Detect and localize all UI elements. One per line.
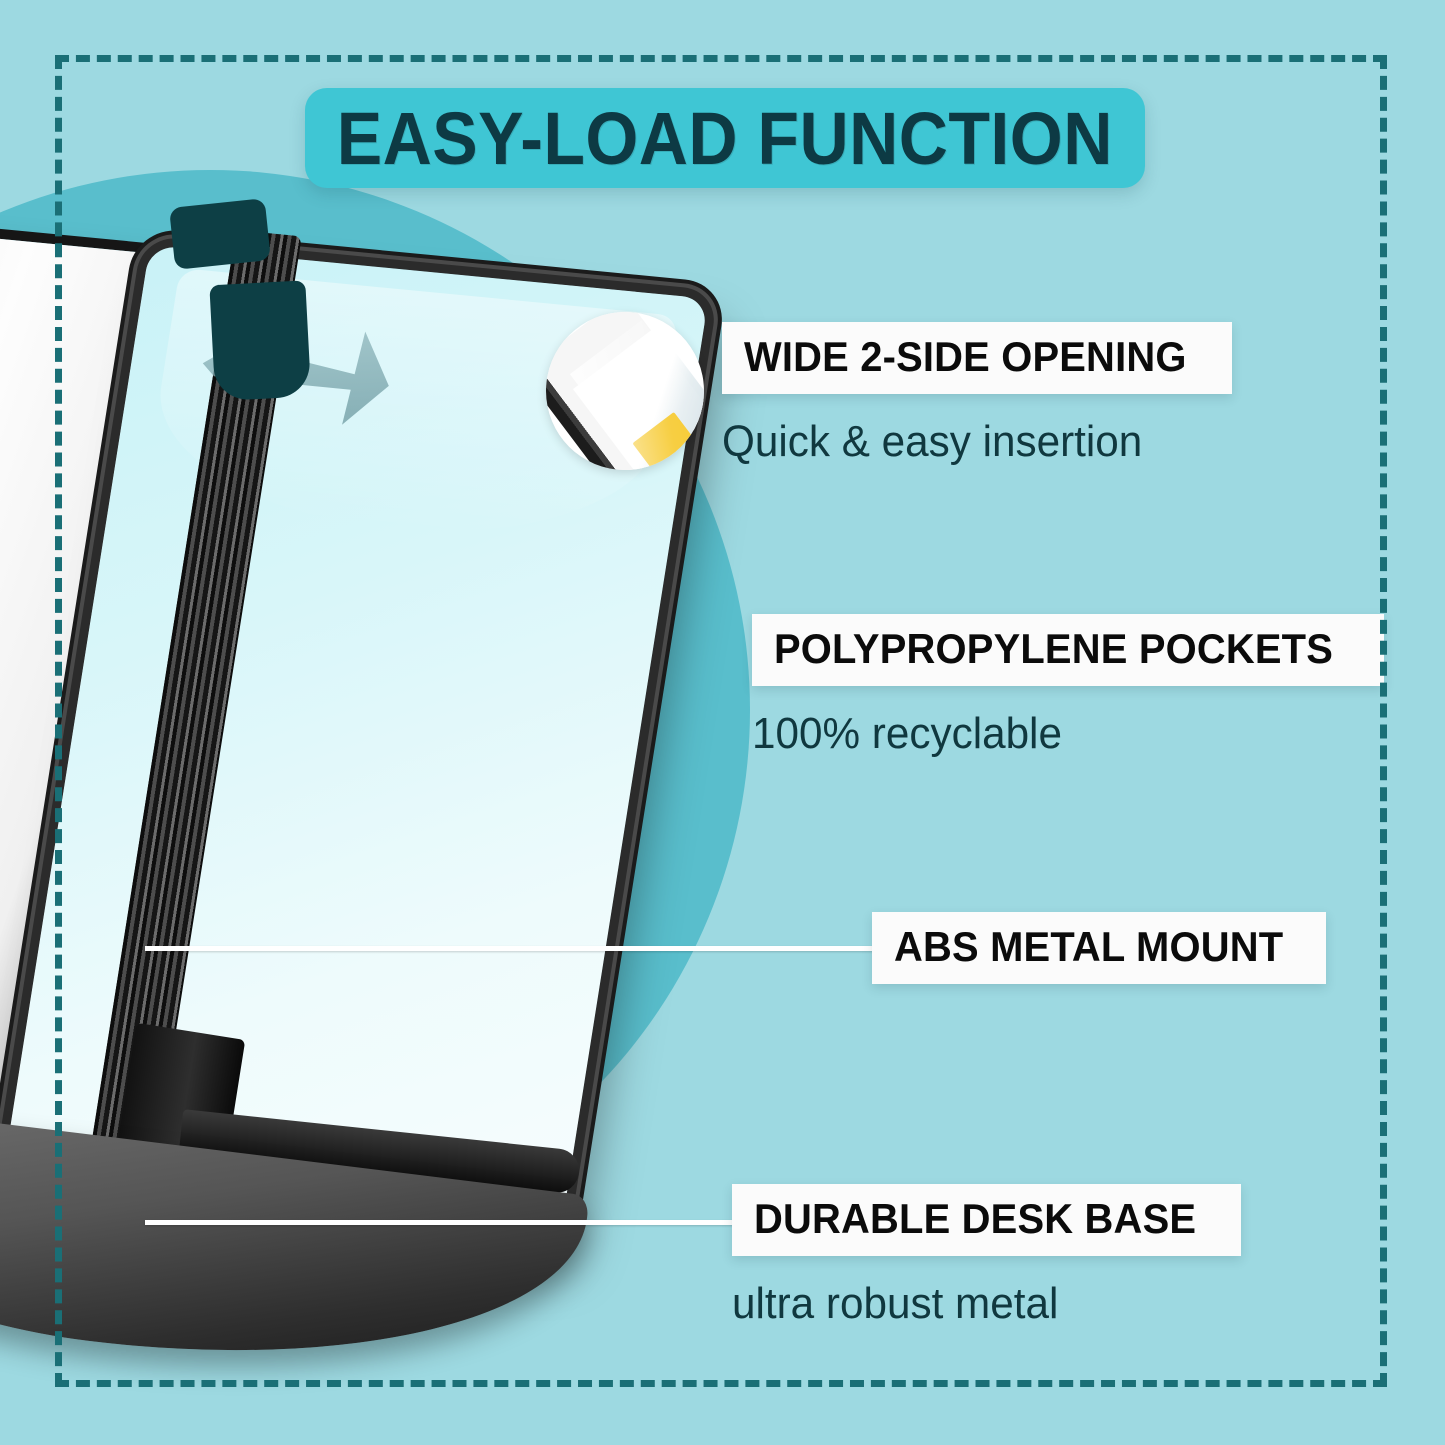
feature-title: WIDE 2-SIDE OPENING: [744, 336, 1187, 378]
feature-wide-2-side-opening: WIDE 2-SIDE OPENING Quick & easy inserti…: [722, 322, 1232, 464]
feature-title-box: WIDE 2-SIDE OPENING: [722, 322, 1232, 394]
feature-abs-metal-mount: ABS METAL MOUNT: [872, 912, 1326, 984]
feature-subtitle: 100% recyclable: [752, 712, 1359, 756]
feature-title-box: ABS METAL MOUNT: [872, 912, 1326, 984]
feature-title: DURABLE DESK BASE: [754, 1198, 1196, 1240]
insertion-arrow-icon: [160, 195, 410, 445]
feature-polypropylene-pockets: POLYPROPYLENE POCKETS 100% recyclable: [752, 614, 1384, 756]
feature-title-box: POLYPROPYLENE POCKETS: [752, 614, 1384, 686]
headline-banner: EASY-LOAD FUNCTION: [305, 88, 1145, 188]
infographic-canvas: EASY-LOAD FUNCTION WIDE 2-SIDE OPENING Q…: [0, 0, 1445, 1445]
leader-line-durable-desk-base: [145, 1220, 745, 1225]
feature-subtitle: Quick & easy insertion: [722, 420, 1211, 464]
inset-photo-wide-opening: [546, 312, 704, 470]
feature-title-box: DURABLE DESK BASE: [732, 1184, 1241, 1256]
leader-line-abs-metal-mount: [145, 946, 880, 951]
feature-subtitle: ultra robust metal: [732, 1282, 1221, 1326]
headline-text: EASY-LOAD FUNCTION: [337, 96, 1113, 181]
feature-title: POLYPROPYLENE POCKETS: [774, 628, 1333, 670]
feature-title: ABS METAL MOUNT: [894, 926, 1283, 968]
feature-durable-desk-base: DURABLE DESK BASE ultra robust metal: [732, 1184, 1241, 1326]
